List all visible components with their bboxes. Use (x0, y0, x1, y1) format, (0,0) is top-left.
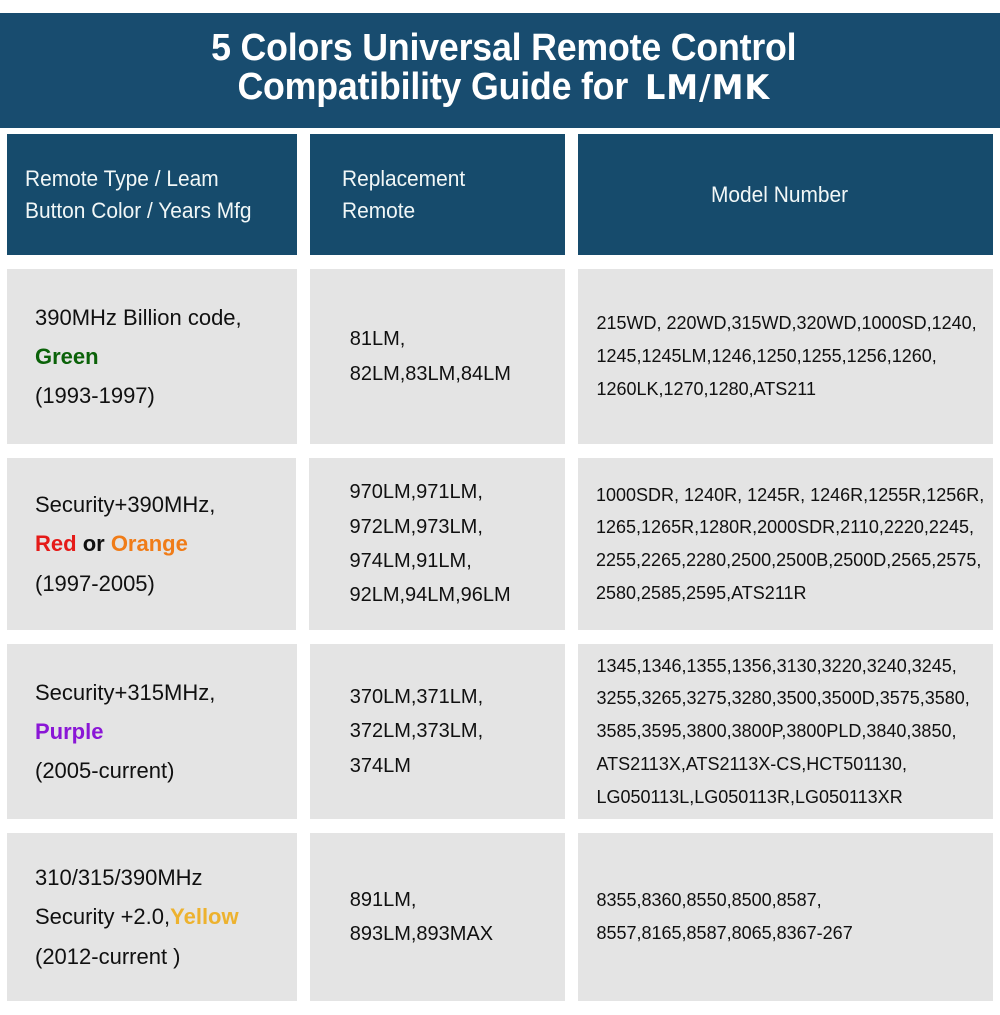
row-1-type-line: 390MHz Billion code, (35, 298, 287, 337)
header-label-model-number: Model Number (711, 179, 848, 210)
row-1-years: (1993-1997) (35, 376, 287, 415)
row-2-color-label-red: Red (35, 531, 77, 556)
row-3-replacement-line: 372LM,373LM, (350, 714, 556, 748)
header-cell-replacement-remote: Replacement Remote (310, 134, 566, 255)
row-2-model-line: 1265,1265R,1280R,2000SDR,2110,2220,2245, (596, 511, 983, 544)
table-row: 310/315/390MHz Security +2.0,Yellow (201… (0, 833, 1000, 1001)
row-3-replacement-line: 374LM (350, 749, 556, 783)
row-3-model-line: 1345,1346,1355,1356,3130,3220,3240,3245, (596, 650, 983, 683)
row-1-replacement-line: 81LM, (350, 322, 556, 356)
row-4-model-line: 8557,8165,8587,8065,8367-267 (596, 917, 983, 950)
row-4-color-label: Yellow (170, 904, 238, 929)
row-2-color-labels: Red or Orange (35, 524, 286, 563)
row-4-type-line: 310/315/390MHz (35, 858, 287, 897)
table-row: Security+390MHz, Red or Orange (1997-200… (0, 458, 1000, 630)
row-3-type-line: Security+315MHz, (35, 673, 287, 712)
row-3-replacement-cell: 370LM,371LM, 372LM,373LM, 374LM (310, 644, 566, 819)
row-4-security-prefix: Security +2.0, (35, 904, 170, 929)
compatibility-table: Remote Type / Leam Button Color / Years … (0, 134, 1000, 1015)
row-1-model-cell: 215WD, 220WD,315WD,320WD,1000SD,1240, 12… (578, 269, 993, 444)
row-2-replacement-line: 92LM,94LM,96LM (349, 578, 555, 612)
row-2-years: (1997-2005) (35, 564, 286, 603)
page-banner: 5 Colors Universal Remote Control Compat… (0, 13, 1000, 128)
row-1-remote-type-cell: 390MHz Billion code, Green (1993-1997) (7, 269, 297, 444)
row-1-model-line: 1260LK,1270,1280,ATS211 (596, 373, 983, 406)
row-4-model-cell: 8355,8360,8550,8500,8587, 8557,8165,8587… (578, 833, 993, 1001)
row-4-model-line: 8355,8360,8550,8500,8587, (596, 884, 983, 917)
table-row: 390MHz Billion code, Green (1993-1997) 8… (0, 269, 1000, 444)
row-4-years: (2012-current ) (35, 937, 287, 976)
table-row: Security+315MHz, Purple (2005-current) 3… (0, 644, 1000, 819)
banner-title-line-2: Compatibility Guide for LM/MK (30, 68, 970, 107)
compatibility-guide-page: 5 Colors Universal Remote Control Compat… (0, 0, 1000, 1000)
row-2-model-line: 2255,2265,2280,2500,2500B,2500D,2565,257… (596, 544, 983, 577)
row-3-model-line: 3255,3265,3275,3280,3500,3500D,3575,3580… (596, 682, 983, 715)
header-label-remote-type: Remote Type / Leam Button Color / Years … (25, 163, 252, 225)
banner-model-family: LM/MK (645, 71, 770, 106)
row-3-model-line: ATS2113X,ATS2113X-CS,HCT501130, (596, 748, 983, 781)
row-4-replacement-line: 893LM,893MAX (350, 917, 556, 951)
row-2-model-line: 1000SDR, 1240R, 1245R, 1246R,1255R,1256R… (596, 479, 983, 512)
banner-title-line-1: 5 Colors Universal Remote Control (30, 29, 970, 68)
row-1-color-label: Green (35, 337, 287, 376)
row-3-model-line: 3585,3595,3800,3800P,3800PLD,3840,3850, (596, 715, 983, 748)
row-1-model-line: 1245,1245LM,1246,1250,1255,1256,1260, (596, 340, 983, 373)
row-2-type-line: Security+390MHz, (35, 485, 286, 524)
row-3-model-line: LG050113L,LG050113R,LG050113XR (596, 781, 983, 814)
row-4-remote-type-cell: 310/315/390MHz Security +2.0,Yellow (201… (7, 833, 297, 1001)
row-2-replacement-line: 970LM,971LM, (349, 475, 555, 509)
row-3-color-label: Purple (35, 712, 287, 751)
row-3-years: (2005-current) (35, 751, 287, 790)
row-3-replacement-line: 370LM,371LM, (350, 680, 556, 714)
row-1-model-line: 215WD, 220WD,315WD,320WD,1000SD,1240, (596, 307, 983, 340)
header-cell-remote-type: Remote Type / Leam Button Color / Years … (7, 134, 297, 255)
row-4-replacement-cell: 891LM, 893LM,893MAX (310, 833, 566, 1001)
row-1-replacement-cell: 81LM, 82LM,83LM,84LM (310, 269, 566, 444)
header-cell-model-number: Model Number (578, 134, 993, 255)
row-2-conjunction: or (83, 531, 105, 556)
row-2-model-line: 2580,2585,2595,ATS211R (596, 577, 983, 610)
row-2-color-label-orange: Orange (111, 531, 188, 556)
row-1-replacement-line: 82LM,83LM,84LM (350, 357, 556, 391)
table-header-row: Remote Type / Leam Button Color / Years … (0, 134, 1000, 255)
header-label-replacement-remote: Replacement Remote (342, 163, 465, 225)
row-2-replacement-line: 972LM,973LM, (349, 510, 555, 544)
row-4-security-color: Security +2.0,Yellow (35, 897, 287, 936)
row-2-remote-type-cell: Security+390MHz, Red or Orange (1997-200… (7, 458, 296, 630)
row-4-replacement-line: 891LM, (350, 883, 556, 917)
row-2-replacement-line: 974LM,91LM, (349, 544, 555, 578)
row-3-model-cell: 1345,1346,1355,1356,3130,3220,3240,3245,… (578, 644, 993, 819)
row-3-remote-type-cell: Security+315MHz, Purple (2005-current) (7, 644, 297, 819)
banner-title-line-2-text: Compatibility Guide for (237, 68, 628, 107)
row-2-replacement-cell: 970LM,971LM, 972LM,973LM, 974LM,91LM, 92… (309, 458, 565, 630)
row-2-model-cell: 1000SDR, 1240R, 1245R, 1246R,1255R,1256R… (578, 458, 993, 630)
